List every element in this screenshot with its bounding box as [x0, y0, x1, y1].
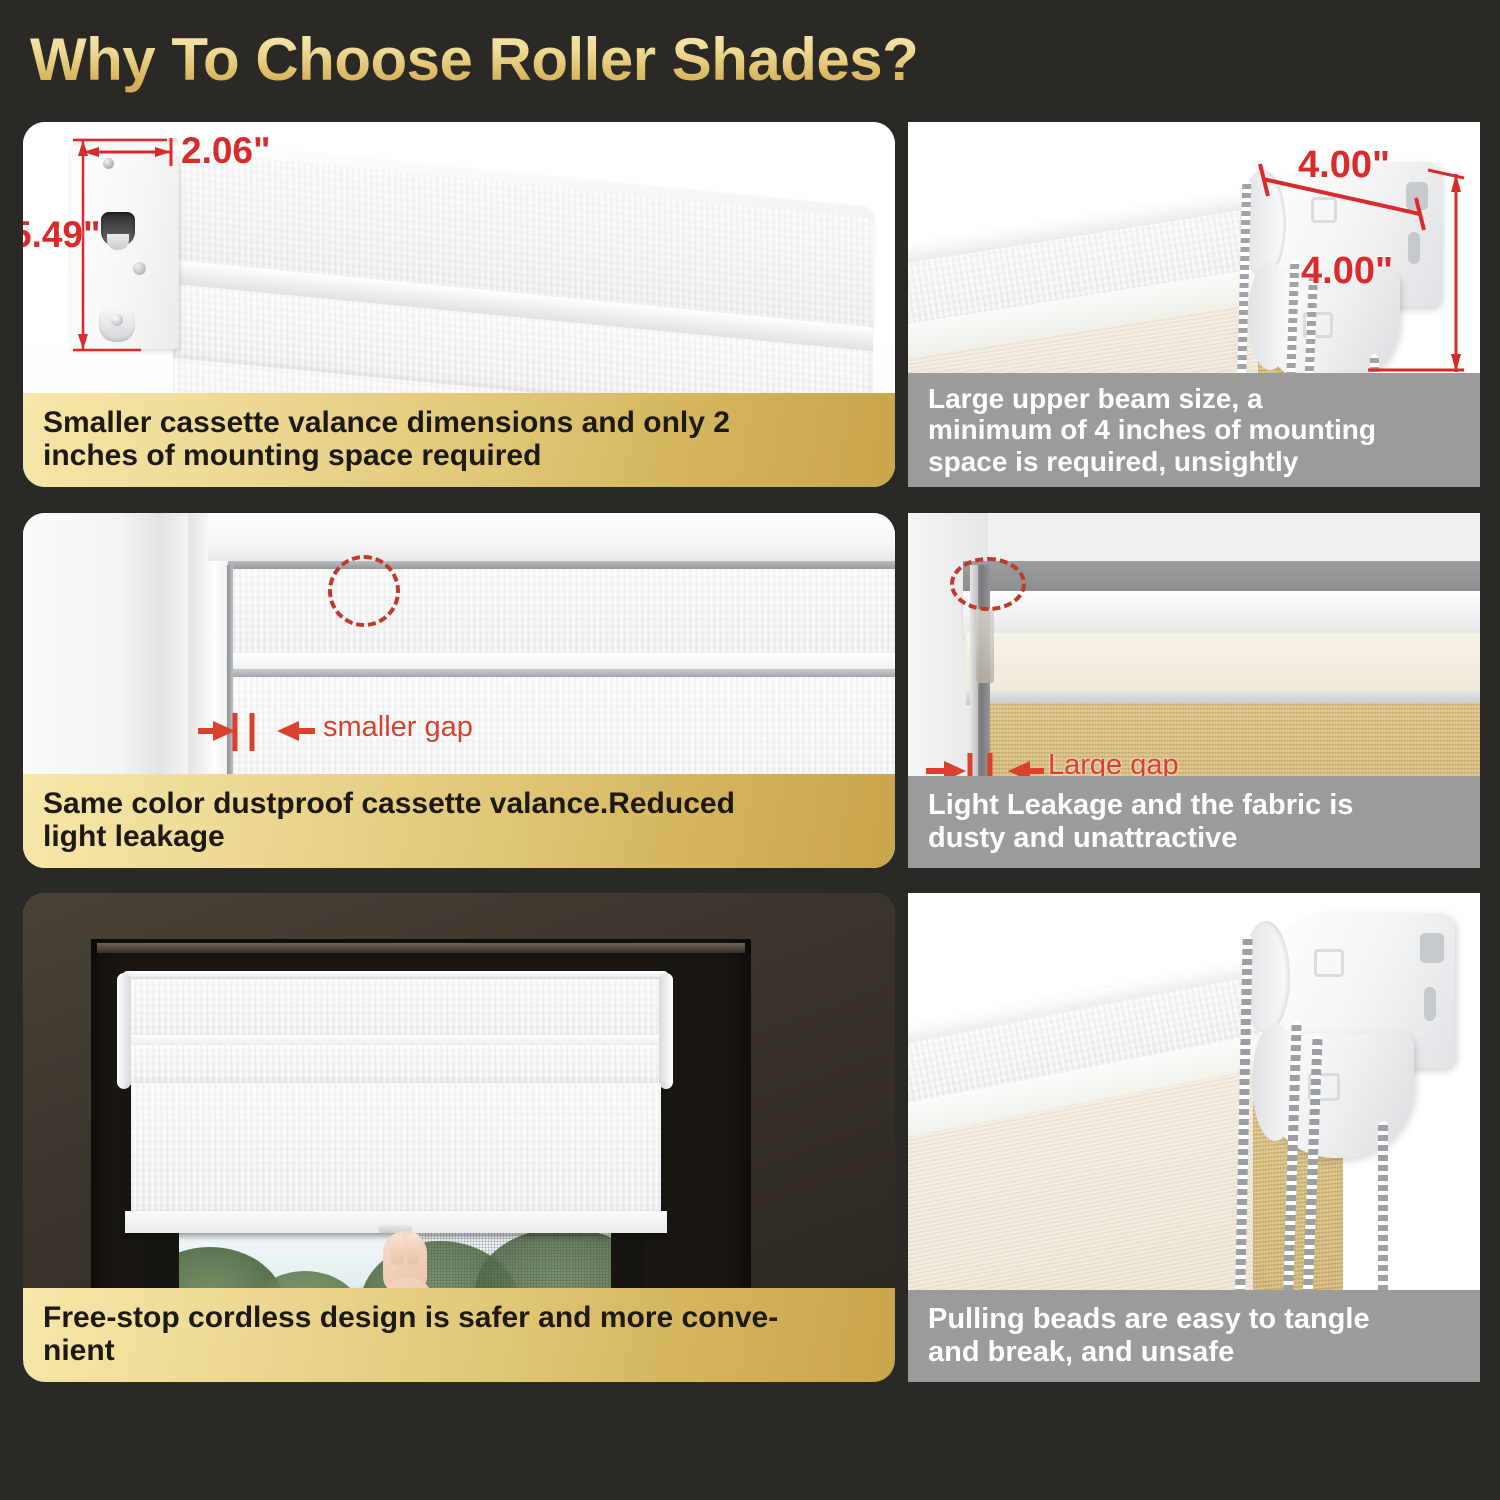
caption-line: Large upper beam size, a — [928, 383, 1462, 414]
caption-pro-small-gap: Same color dustproof cassette valance.Re… — [23, 774, 895, 868]
caption-line: and break, and unsafe — [928, 1336, 1462, 1368]
panel-con-large-gap: Large gap Light Leakage and the fabric i… — [908, 513, 1480, 868]
panel-pro-small-gap: smaller gap Same color dustproof cassett… — [23, 513, 895, 868]
caption-line: light leakage — [43, 820, 877, 854]
caption-pro-cordless: Free-stop cordless design is safer and m… — [23, 1288, 895, 1382]
caption-line: Pulling beads are easy to tangle — [928, 1303, 1462, 1335]
panel-pro-cassette-size: 2.06" 5.49" Smaller cassette valance dim… — [23, 122, 895, 487]
cassette-valance — [123, 979, 668, 1041]
dimension-label-width: 4.00" — [1298, 144, 1390, 187]
caption-line: space is required, unsightly — [928, 446, 1462, 477]
caption-line: Free-stop cordless design is safer and m… — [43, 1301, 877, 1335]
dimension-label-height: 4.00" — [1301, 250, 1393, 293]
caption-line: nient — [43, 1334, 877, 1368]
comparison-grid: 2.06" 5.49" Smaller cassette valance dim… — [0, 0, 1500, 1500]
dimension-label-width: 2.06" — [181, 130, 271, 172]
highlight-circle — [950, 557, 1026, 611]
caption-line: inches of mounting space required — [43, 439, 877, 473]
panel-pro-cordless: Free-stop cordless design is safer and m… — [23, 893, 895, 1382]
caption-line: minimum of 4 inches of mounting — [928, 414, 1462, 445]
caption-con-beads: Pulling beads are easy to tangle and bre… — [908, 1290, 1480, 1382]
caption-line: dusty and unattractive — [928, 822, 1462, 854]
caption-con-large-gap: Light Leakage and the fabric is dusty an… — [908, 776, 1480, 868]
caption-con-beam-size: Large upper beam size, a minimum of 4 in… — [908, 373, 1480, 487]
panel-con-beads: Pulling beads are easy to tangle and bre… — [908, 893, 1480, 1382]
caption-line: Smaller cassette valance dimensions and … — [43, 406, 877, 440]
highlight-circle — [328, 555, 400, 627]
caption-line: Light Leakage and the fabric is — [928, 789, 1462, 821]
caption-line: Same color dustproof cassette valance.Re… — [43, 787, 877, 821]
caption-pro-cassette-size: Smaller cassette valance dimensions and … — [23, 393, 895, 487]
dimension-label-height: 5.49" — [23, 214, 101, 256]
gap-label-smaller: smaller gap — [323, 711, 473, 744]
panel-con-beam-size: 4.00" 4.00" Large upper beam size, a min… — [908, 122, 1480, 487]
roller-shade-fabric — [131, 1083, 661, 1219]
